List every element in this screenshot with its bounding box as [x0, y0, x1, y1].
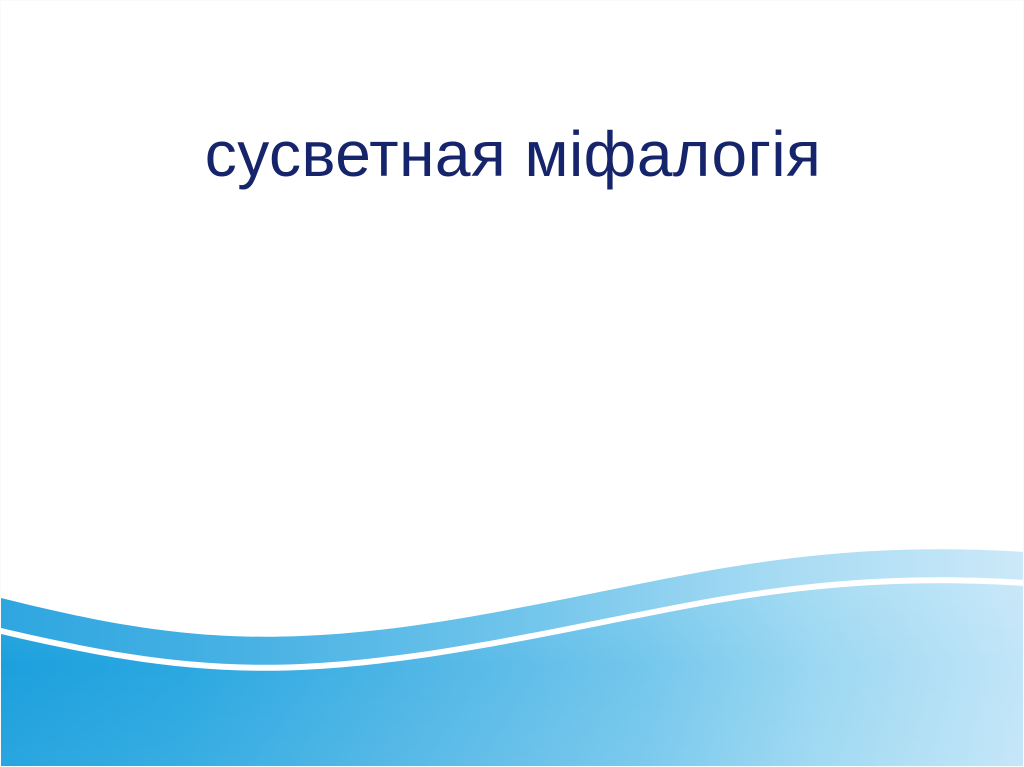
title-placeholder: сусветная міфалогія	[1, 119, 1024, 191]
presentation-slide: сусветная міфалогія	[0, 0, 1024, 767]
page-title: сусветная міфалогія	[205, 119, 822, 191]
wave-decoration	[1, 536, 1024, 766]
wave-graphic	[1, 536, 1024, 766]
content-placeholder	[91, 236, 933, 566]
wave-upper-band	[1, 549, 1024, 665]
wave-main-body	[1, 583, 1024, 766]
wave-sheen	[1, 583, 1024, 766]
